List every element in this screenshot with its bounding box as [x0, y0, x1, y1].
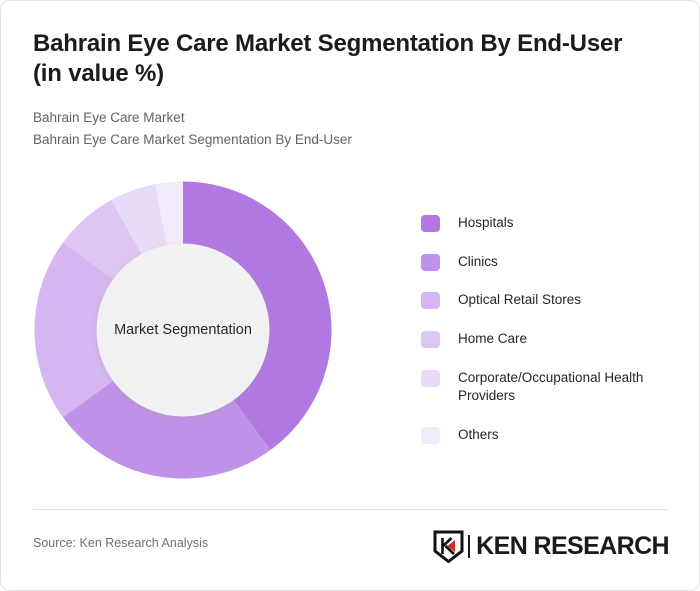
legend-label: Optical Retail Stores — [458, 291, 581, 310]
legend-swatch-icon — [421, 331, 440, 348]
legend-item[interactable]: Clinics — [421, 253, 671, 272]
donut-svg — [34, 181, 332, 479]
chart-card: Bahrain Eye Care Market Segmentation By … — [0, 0, 700, 591]
ken-research-shield-icon — [433, 530, 464, 563]
legend-swatch-icon — [421, 427, 440, 444]
source-text: Source: Ken Research Analysis — [33, 536, 208, 550]
chart-footer: Source: Ken Research Analysis KEN RESEAR… — [33, 528, 669, 568]
chart-header: Bahrain Eye Care Market Segmentation By … — [33, 29, 657, 151]
chart-area: Market Segmentation HospitalsClinicsOpti… — [1, 169, 700, 499]
legend-swatch-icon — [421, 370, 440, 387]
donut-hole — [97, 244, 270, 417]
legend-label: Others — [458, 426, 499, 445]
footer-divider — [33, 509, 669, 510]
chart-legend: HospitalsClinicsOptical Retail StoresHom… — [421, 214, 671, 464]
page-title: Bahrain Eye Care Market Segmentation By … — [33, 29, 657, 90]
legend-swatch-icon — [421, 292, 440, 309]
brand-logo: KEN RESEARCH — [433, 528, 669, 564]
subtitle-segmentation: Bahrain Eye Care Market Segmentation By … — [33, 129, 657, 151]
legend-item[interactable]: Others — [421, 426, 671, 445]
subtitle-market: Bahrain Eye Care Market — [33, 107, 657, 129]
legend-item[interactable]: Hospitals — [421, 214, 671, 233]
brand-name: KEN RESEARCH — [476, 532, 669, 561]
subtitle-block: Bahrain Eye Care Market Bahrain Eye Care… — [33, 107, 657, 151]
legend-label: Home Care — [458, 330, 527, 349]
brand-divider — [468, 535, 470, 558]
legend-item[interactable]: Corporate/Occupational Health Providers — [421, 369, 671, 406]
legend-label: Corporate/Occupational Health Providers — [458, 369, 658, 406]
legend-label: Hospitals — [458, 214, 514, 233]
legend-swatch-icon — [421, 215, 440, 232]
legend-label: Clinics — [458, 253, 498, 272]
legend-item[interactable]: Optical Retail Stores — [421, 291, 671, 310]
donut-chart: Market Segmentation — [34, 181, 332, 479]
legend-item[interactable]: Home Care — [421, 330, 671, 349]
legend-swatch-icon — [421, 254, 440, 271]
